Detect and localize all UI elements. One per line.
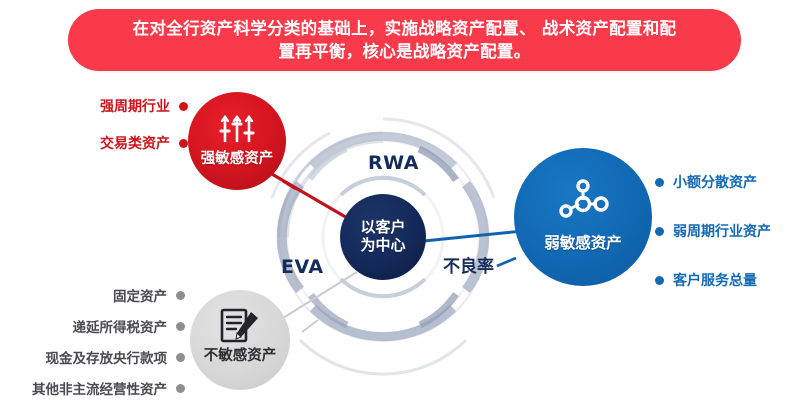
list-item[interactable]: 递延所得税资产 (0, 316, 185, 336)
bullet-dot-icon (655, 178, 664, 187)
sliders-icon (217, 113, 257, 149)
list-item[interactable]: 固定资产 (0, 285, 185, 305)
connector-grey-stub (302, 320, 318, 332)
list-item[interactable]: 客户服务总量 (655, 270, 771, 290)
node-strong-sensitive-assets[interactable]: 强敏感资产 (188, 92, 286, 190)
list-item[interactable]: 其他非主流经营性资产 (0, 378, 185, 398)
infographic-canvas: 在对全行资产科学分类的基础上，实施战略资产配置、 战术资产配置和配 置再平衡，核… (0, 0, 805, 414)
connector-blue (424, 231, 523, 241)
list-item[interactable]: 强周期行业 (56, 96, 188, 116)
bullet-dot-icon (176, 291, 185, 300)
bullet-label: 固定资产 (113, 285, 167, 305)
node-label-red: 强敏感资产 (201, 147, 274, 168)
ring-label-npl: 不良率 (443, 252, 494, 277)
bullet-label: 小额分散资产 (673, 172, 757, 192)
hub-label: 以客户 为中心 (360, 219, 405, 254)
bullet-list-blue: 小额分散资产 弱周期行业资产 客户服务总量 (655, 172, 771, 319)
list-item[interactable]: 现金及存放央行款项 (0, 347, 185, 367)
bullet-dot-icon (176, 353, 185, 362)
bullet-label: 现金及存放央行款项 (46, 347, 168, 367)
node-weak-sensitive-assets[interactable]: 弱敏感资产 (514, 148, 652, 286)
bullet-dot-icon (655, 276, 664, 285)
network-nodes-icon (557, 178, 609, 226)
list-item[interactable]: 交易类资产 (56, 133, 188, 153)
node-label-blue: 弱敏感资产 (544, 231, 622, 253)
bullet-dot-icon (176, 322, 185, 331)
bullet-list-grey: 固定资产 递延所得税资产 现金及存放央行款项 其他非主流经营性资产 (0, 285, 185, 409)
bullet-dot-icon (179, 102, 188, 111)
bullet-label: 递延所得税资产 (73, 316, 168, 336)
bullet-dot-icon (655, 227, 664, 236)
bullet-label: 强周期行业 (100, 96, 170, 116)
ring-label-eva: EVA (281, 256, 324, 278)
bullet-list-red: 强周期行业 交易类资产 (56, 96, 188, 170)
bullet-dot-icon (176, 384, 185, 393)
document-pen-icon (217, 306, 263, 354)
list-item[interactable]: 弱周期行业资产 (655, 221, 771, 241)
bullet-dot-icon (179, 139, 188, 148)
ring-label-rwa: RWA (368, 152, 419, 174)
hub-circle[interactable]: 以客户 为中心 (340, 194, 426, 280)
connector-blue-stub (497, 258, 516, 266)
bullet-label: 客户服务总量 (673, 270, 757, 290)
node-insensitive-assets[interactable]: 不敏感资产 (190, 290, 290, 390)
list-item[interactable]: 小额分散资产 (655, 172, 771, 192)
bullet-label: 其他非主流经营性资产 (32, 378, 167, 398)
bullet-label: 交易类资产 (100, 133, 170, 153)
bullet-label: 弱周期行业资产 (673, 221, 771, 241)
